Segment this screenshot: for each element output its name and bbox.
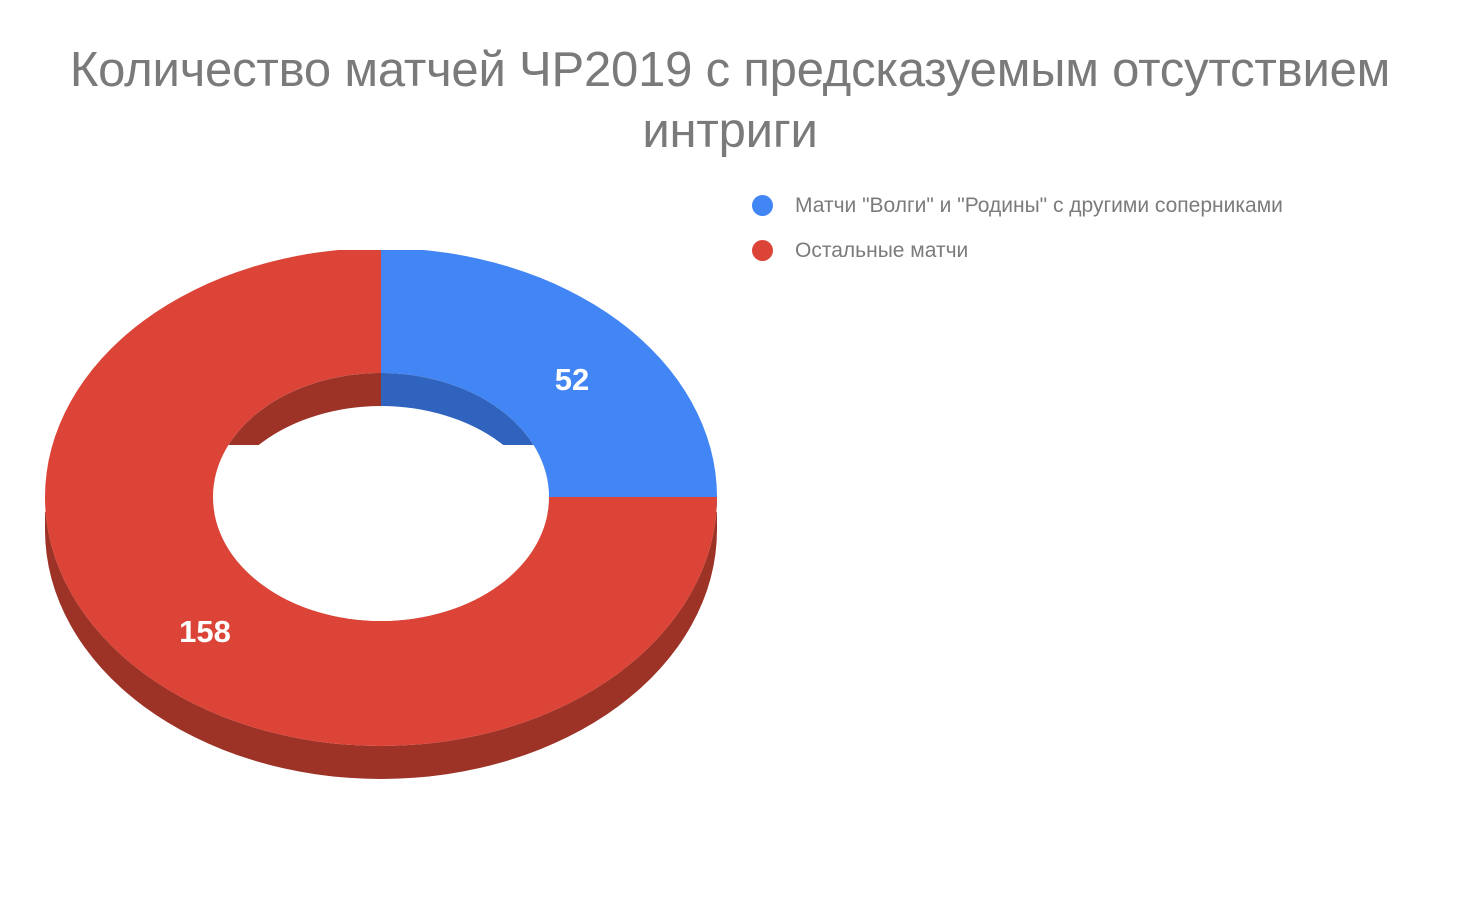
legend-item-label: Остальные матчи <box>795 237 968 264</box>
slice-value-label-blue: 52 <box>555 362 589 397</box>
legend-item-other-matches[interactable]: Остальные матчи <box>752 237 1342 264</box>
donut-chart-svg: 52 158 <box>30 250 730 800</box>
legend-swatch-blue-circle-icon <box>752 195 773 216</box>
slice-value-label-red: 158 <box>179 614 231 649</box>
donut-chart: 52 158 <box>30 250 730 800</box>
legend-item-label: Матчи "Волги" и "Родины" с другими сопер… <box>795 192 1283 219</box>
legend-item-volga-rodina[interactable]: Матчи "Волги" и "Родины" с другими сопер… <box>752 192 1342 219</box>
chart-page: Количество матчей ЧР2019 с предсказуемым… <box>0 0 1460 903</box>
page-title: Количество матчей ЧР2019 с предсказуемым… <box>60 40 1400 162</box>
legend-swatch-red-circle-icon <box>752 240 773 261</box>
chart-legend: Матчи "Волги" и "Родины" с другими сопер… <box>752 192 1342 283</box>
